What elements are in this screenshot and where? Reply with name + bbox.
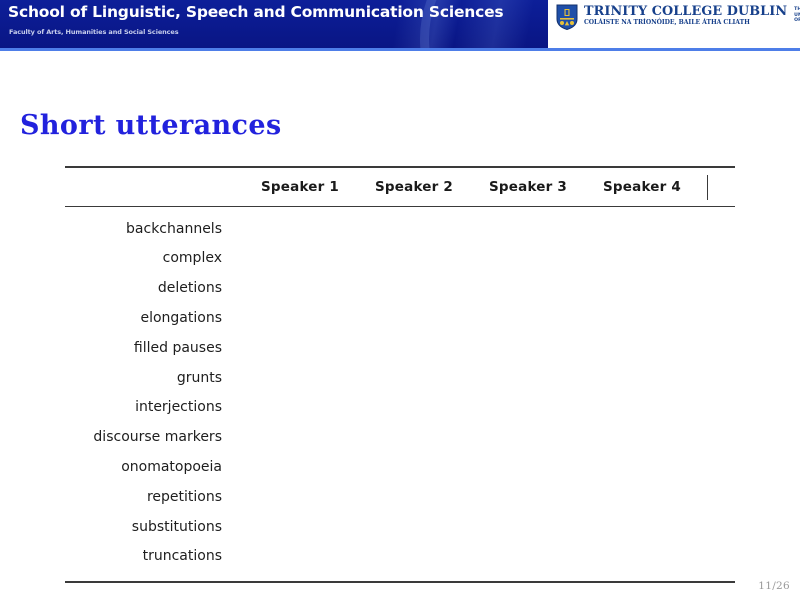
table-row-label: truncations bbox=[65, 548, 230, 564]
table-column-header: Speaker 3 bbox=[471, 179, 585, 195]
table-column-header: Speaker 4 bbox=[585, 179, 699, 195]
table-row-label: onomatopoeia bbox=[65, 459, 230, 475]
header-banner-blue-block: School of Linguistic, Speech and Communi… bbox=[0, 0, 548, 48]
table-row: backchannels bbox=[65, 214, 735, 244]
table-row-label: repetitions bbox=[65, 489, 230, 505]
tcd-tagline-line-3: OF DUBLIN bbox=[794, 18, 800, 24]
tcd-wordmark: TRINITY COLLEGE DUBLIN COLÁISTE NA TRÍON… bbox=[584, 4, 787, 27]
table-row-label: discourse markers bbox=[65, 429, 230, 445]
table-header-cells: Speaker 1Speaker 2Speaker 3Speaker 4 bbox=[65, 168, 735, 206]
tcd-tagline: THE UNIVERSITY OF DUBLIN bbox=[794, 4, 800, 24]
tcd-name-irish: COLÁISTE NA TRÍONÓIDE, BAILE ÁTHA CLIATH bbox=[584, 19, 787, 27]
page-title: Short utterances bbox=[20, 110, 282, 141]
table-row: elongations bbox=[65, 303, 735, 333]
table-column-header: Speaker 1 bbox=[243, 179, 357, 195]
table-row: truncations bbox=[65, 541, 735, 571]
table-row-label: complex bbox=[65, 250, 230, 266]
tcd-name-english: TRINITY COLLEGE DUBLIN bbox=[584, 5, 787, 18]
table-row: onomatopoeia bbox=[65, 452, 735, 482]
table-row-label: backchannels bbox=[65, 221, 230, 237]
table-row: filled pauses bbox=[65, 333, 735, 363]
table-row-label: deletions bbox=[65, 280, 230, 296]
table-row: deletions bbox=[65, 273, 735, 303]
table-header-vertical-rule bbox=[707, 175, 708, 200]
short-utterances-table: Speaker 1Speaker 2Speaker 3Speaker 4 bac… bbox=[65, 166, 735, 583]
table-row: complex bbox=[65, 243, 735, 273]
header-banner: School of Linguistic, Speech and Communi… bbox=[0, 0, 800, 48]
table-row: interjections bbox=[65, 392, 735, 422]
trinity-crest-icon bbox=[556, 4, 578, 30]
table-row-label: elongations bbox=[65, 310, 230, 326]
table-row: repetitions bbox=[65, 482, 735, 512]
table-header-row: Speaker 1Speaker 2Speaker 3Speaker 4 bbox=[65, 168, 735, 206]
table-row: discourse markers bbox=[65, 422, 735, 452]
table-row-label: grunts bbox=[65, 370, 230, 386]
faculty-subtitle: Faculty of Arts, Humanities and Social S… bbox=[9, 28, 178, 36]
school-title: School of Linguistic, Speech and Communi… bbox=[8, 3, 503, 21]
table-column-header: Speaker 2 bbox=[357, 179, 471, 195]
table-bottom-rule bbox=[65, 581, 735, 583]
table-row-label: filled pauses bbox=[65, 340, 230, 356]
trinity-college-dublin-logo: TRINITY COLLEGE DUBLIN COLÁISTE NA TRÍON… bbox=[552, 0, 800, 48]
header-bottom-rule bbox=[0, 48, 800, 51]
table-row: grunts bbox=[65, 363, 735, 393]
tcd-tagline-line-1: THE bbox=[794, 7, 800, 13]
page-number: 11/26 bbox=[758, 580, 790, 592]
table-row-label: substitutions bbox=[65, 519, 230, 535]
table-body: backchannelscomplexdeletionselongationsf… bbox=[65, 207, 735, 582]
table-row: substitutions bbox=[65, 512, 735, 542]
table-row-label: interjections bbox=[65, 399, 230, 415]
